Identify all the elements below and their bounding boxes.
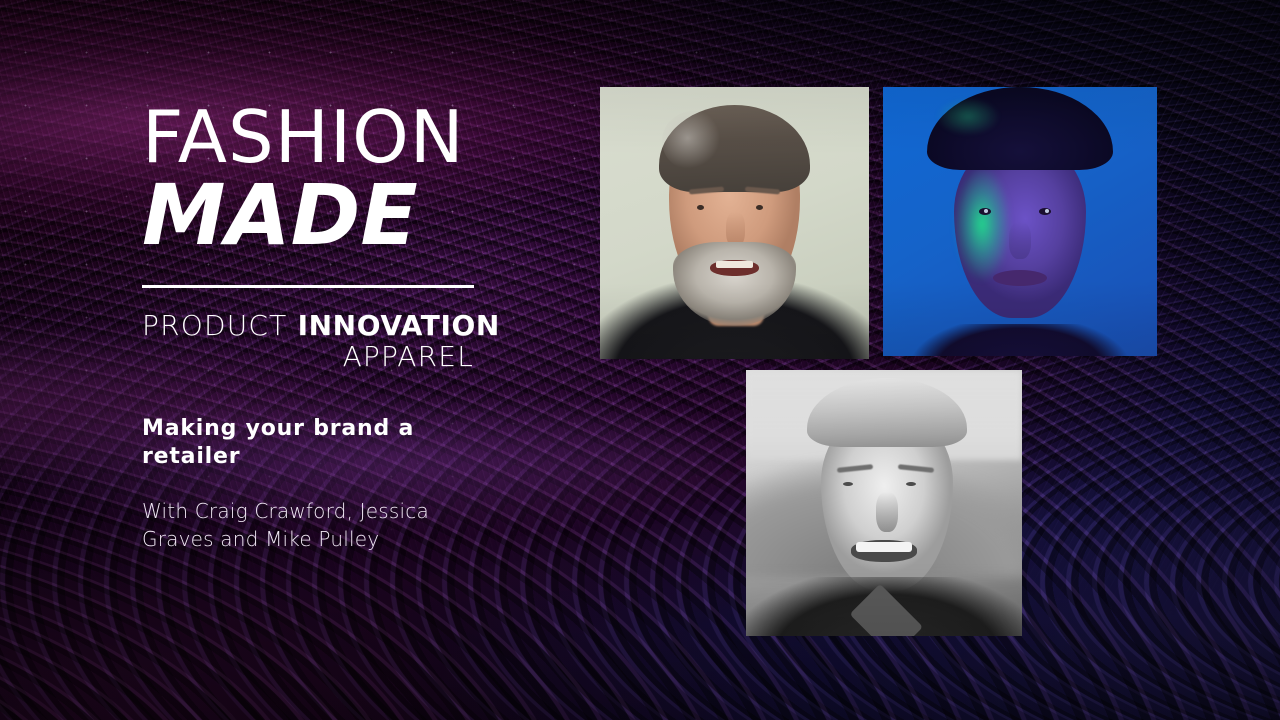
- mike-eye-left: [843, 482, 853, 486]
- jessica-shoulders: [905, 324, 1135, 356]
- mike-teeth: [856, 542, 911, 553]
- speaker-tile-mike[interactable]: [746, 370, 1022, 636]
- title-divider-rule: [142, 285, 474, 288]
- jessica-green-rim-light: [938, 162, 1009, 286]
- session-topic: Making your brand a retailer: [142, 415, 482, 471]
- kicker-word-innovation: INNOVATION: [298, 309, 500, 342]
- jessica-lips: [993, 270, 1048, 286]
- speaker-tile-jessica[interactable]: [883, 87, 1157, 356]
- craig-teeth: [716, 261, 754, 268]
- craig-video-frame: [600, 87, 869, 359]
- slide-canvas: FASHION MADE PRODUCT INNOVATION APPAREL …: [0, 0, 1280, 720]
- title-block: FASHION MADE PRODUCT INNOVATION APPAREL …: [142, 104, 522, 553]
- mike-video-frame: [746, 370, 1022, 636]
- jessica-hair-highlight: [932, 95, 1003, 138]
- jessica-video-frame: [883, 87, 1157, 356]
- brand-title-line-1: FASHION: [142, 104, 522, 171]
- brand-title-line-2: MADE: [142, 173, 522, 257]
- kicker-word-product: PRODUCT: [142, 309, 288, 342]
- mike-eye-right: [906, 482, 916, 486]
- kicker-line-apparel: APPAREL: [142, 341, 474, 372]
- mike-nose: [876, 492, 898, 532]
- speaker-tile-craig[interactable]: [600, 87, 869, 359]
- jessica-nose: [1009, 222, 1031, 260]
- session-presenters: With Craig Crawford, Jessica Graves and …: [142, 497, 494, 553]
- brand-kicker: PRODUCT INNOVATION: [142, 310, 522, 341]
